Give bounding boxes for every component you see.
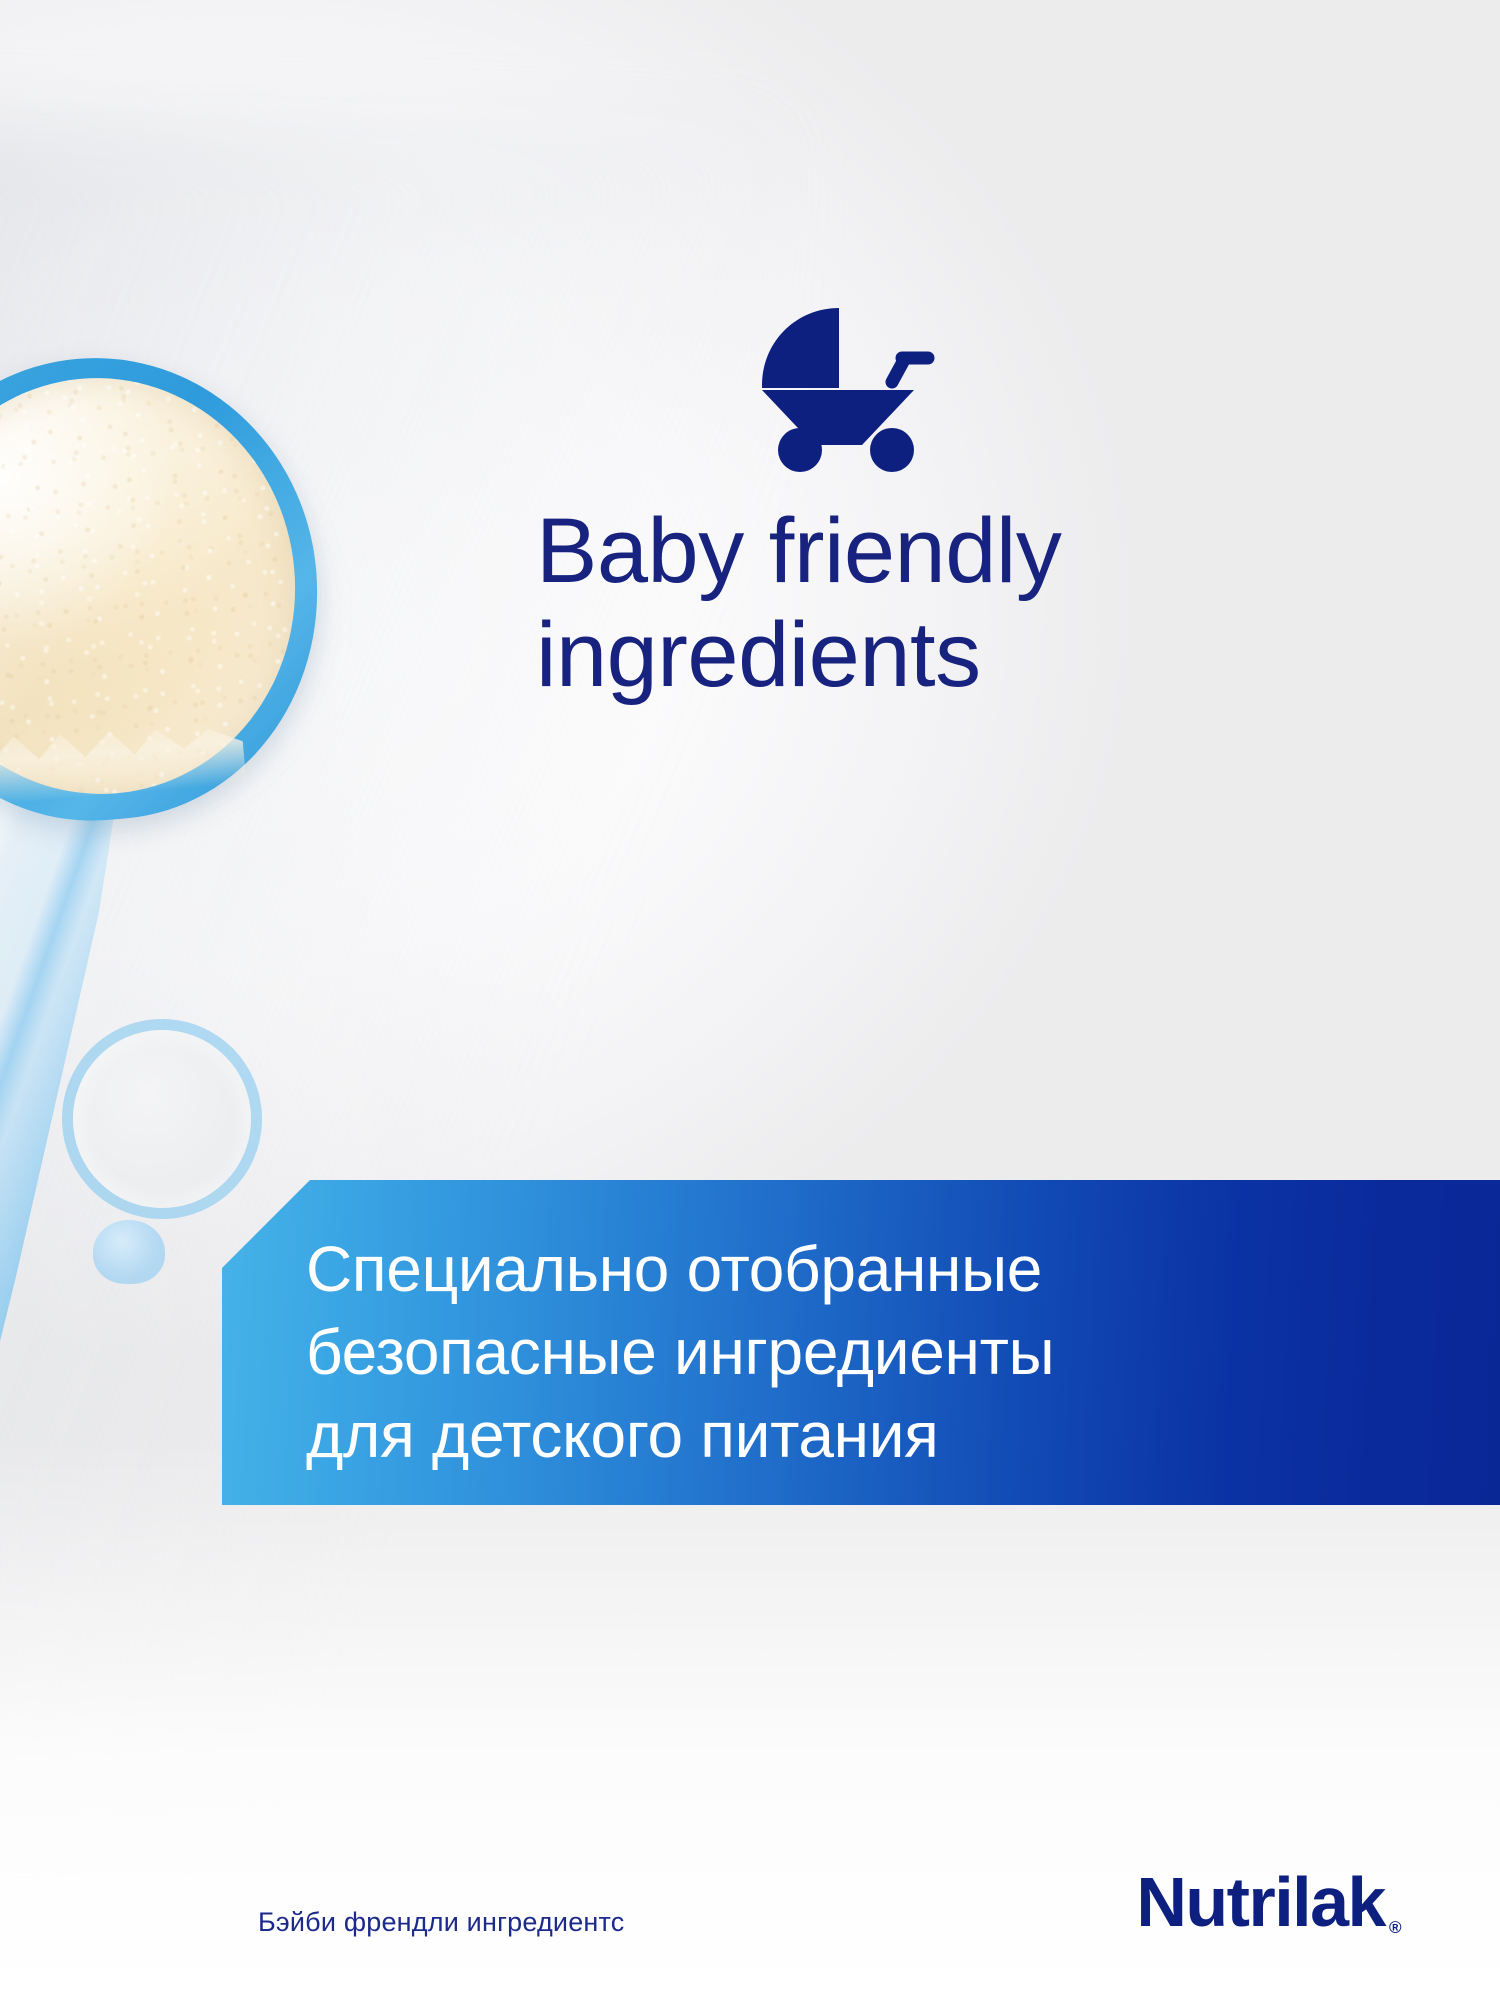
poster-canvas: Baby friendly ingredients Специально ото… xyxy=(0,0,1500,2000)
highlight-banner-text: Специально отобранные безопасные ингреди… xyxy=(306,1228,1436,1478)
transliteration-caption: Бэйби френдли ингредиентс xyxy=(258,1907,624,1938)
brand-logo: Nutrilak ® xyxy=(1136,1862,1400,1942)
registered-trademark-icon: ® xyxy=(1389,1919,1400,1936)
brand-logo-name: Nutrilak xyxy=(1136,1862,1385,1942)
baby-stroller-icon xyxy=(742,302,942,474)
background-bottom-fade xyxy=(0,0,1500,2000)
page-title: Baby friendly ingredients xyxy=(536,500,1176,708)
